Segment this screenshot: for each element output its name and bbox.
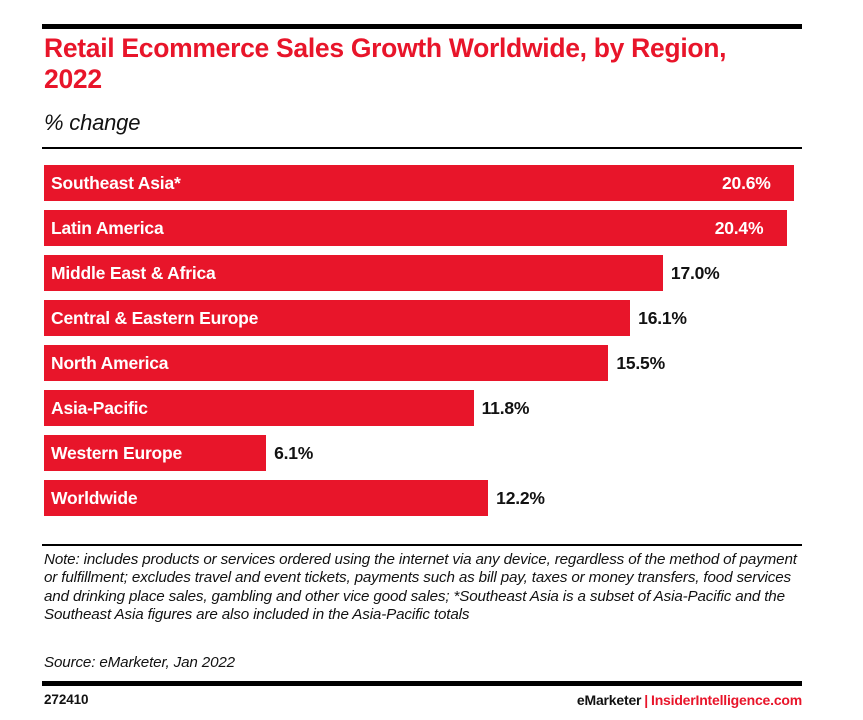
footer-rule	[42, 681, 802, 686]
note-divider-rule	[42, 544, 802, 546]
bar-value-label: 15.5%	[616, 345, 665, 381]
brand-emarketer-label: eMarketer	[577, 692, 641, 708]
bar-value-label: 16.1%	[638, 300, 687, 336]
bar-row: Middle East & Africa17.0%	[44, 255, 802, 291]
bar-row: North America15.5%	[44, 345, 802, 381]
bar-category-label: North America	[51, 345, 168, 381]
bar-category-label: Central & Eastern Europe	[51, 300, 258, 336]
bar-row: Southeast Asia*20.6%	[44, 165, 802, 201]
bar-value-label: 12.2%	[496, 480, 545, 516]
chart-title: Retail Ecommerce Sales Growth Worldwide,…	[44, 33, 764, 95]
chart-id-number: 272410	[44, 692, 88, 707]
chart-footer: 272410 eMarketer|InsiderIntelligence.com	[44, 692, 802, 712]
chart-source: Source: eMarketer, Jan 2022	[44, 654, 235, 671]
brand-separator: |	[641, 692, 651, 708]
bar-category-label: Worldwide	[51, 480, 137, 516]
chart-card: Retail Ecommerce Sales Growth Worldwide,…	[0, 0, 863, 720]
bar-value-label: 6.1%	[274, 435, 313, 471]
bar-chart-plot-area: Southeast Asia*20.6%Latin America20.4%Mi…	[44, 165, 802, 525]
bar-category-label: Latin America	[51, 210, 163, 246]
bar-row: Latin America20.4%	[44, 210, 802, 246]
bar-category-label: Asia-Pacific	[51, 390, 148, 426]
bar-value-label: 17.0%	[671, 255, 720, 291]
bar-value-label: 20.6%	[722, 165, 771, 201]
brand-domain-label[interactable]: InsiderIntelligence.com	[651, 692, 802, 708]
header-divider-rule	[42, 147, 802, 149]
brand-attribution: eMarketer|InsiderIntelligence.com	[577, 692, 802, 708]
bar-category-label: Western Europe	[51, 435, 182, 471]
bar-value-label: 20.4%	[715, 210, 764, 246]
top-rule	[42, 24, 802, 29]
bar-row: Central & Eastern Europe16.1%	[44, 300, 802, 336]
bar-category-label: Southeast Asia*	[51, 165, 181, 201]
bar-value-label: 11.8%	[482, 390, 530, 426]
bar-row: Asia-Pacific11.8%	[44, 390, 802, 426]
bar-row: Western Europe6.1%	[44, 435, 802, 471]
chart-note: Note: includes products or services orde…	[44, 551, 798, 624]
chart-subtitle: % change	[44, 110, 140, 136]
chart-inner: Retail Ecommerce Sales Growth Worldwide,…	[42, 0, 802, 720]
bar-row: Worldwide12.2%	[44, 480, 802, 516]
bar-category-label: Middle East & Africa	[51, 255, 216, 291]
